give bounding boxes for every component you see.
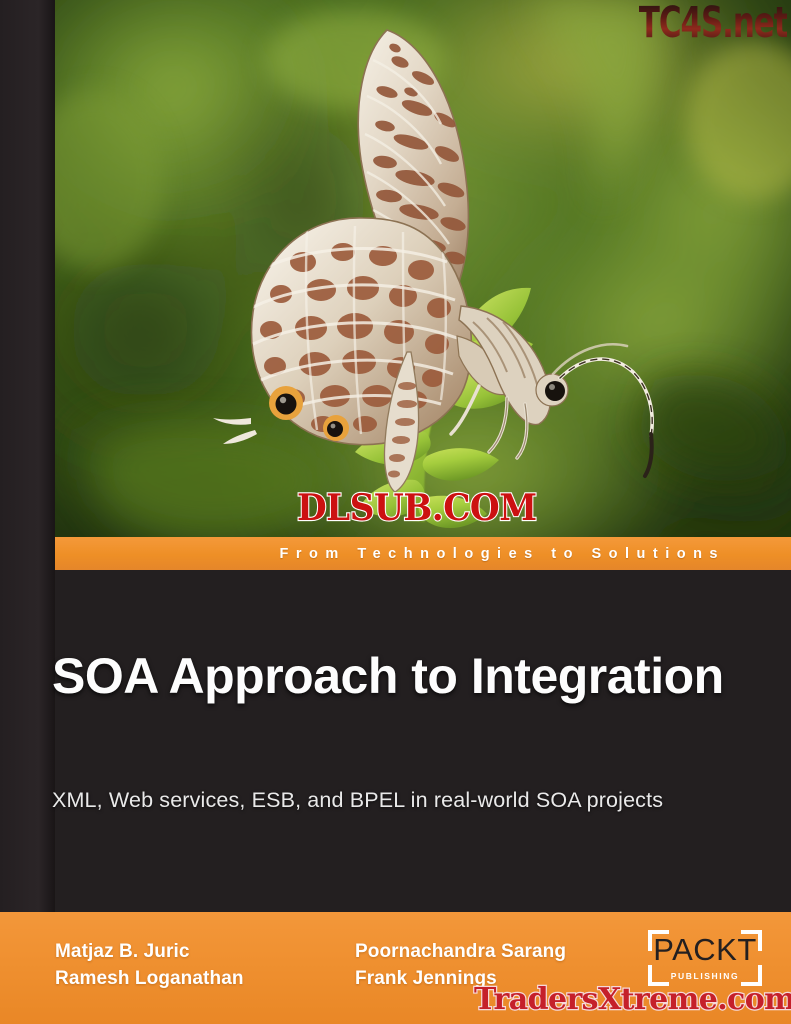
author-name: Poornachandra Sarang [355,939,566,966]
butterfly-photo-illustration [55,0,791,537]
cover-spine-strip [0,0,55,1024]
cover-photo [55,0,791,537]
watermark-dlsub: DLSUB.COM [297,487,537,529]
author-name: Matjaz B. Juric [55,939,244,966]
book-subtitle: XML, Web services, ESB, and BPEL in real… [52,787,772,815]
strapline-band: From Technologies to Solutions [55,537,791,570]
publisher-tagline: PUBLISHING [648,971,762,982]
watermark-tradersxtreme: TradersXtreme.com [474,982,791,1017]
book-cover: DLSUB.COM TC4S.net From Technologies to … [0,0,791,1024]
author-name: Ramesh Loganathan [55,966,244,993]
publisher-name: PACKT [648,928,762,972]
authors-left-column: Matjaz B. Juric Ramesh Loganathan [55,939,244,993]
book-title: SOA Approach to Integration [52,650,772,703]
strapline-text: From Technologies to Solutions [280,546,791,562]
packt-publishing-logo: PACKT PUBLISHING [648,928,762,990]
watermark-tc4s: TC4S.net [638,0,787,48]
